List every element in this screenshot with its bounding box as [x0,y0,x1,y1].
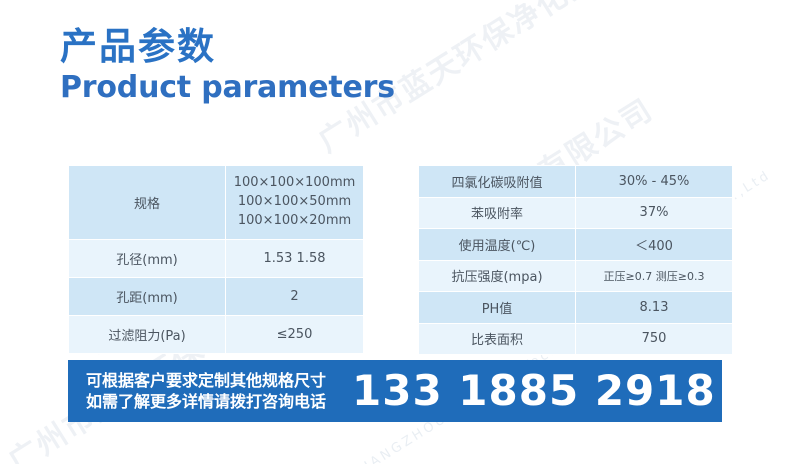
cta-phone-number[interactable]: 133 1885 2918 [352,370,716,412]
row-value: 8.13 [576,292,733,324]
table-row: 苯吸附率 37% [419,197,733,229]
row-value-line: 100×100×100mm [228,174,361,193]
row-value: ＜400 [576,229,733,261]
table-row: PH值 8.13 [419,292,733,324]
cta-banner: 可根据客户要求定制其他规格尺寸 如需了解更多详情请拨打咨询电话 133 1885… [68,360,722,422]
table-row: 规格 100×100×100mm 100×100×50mm 100×100×20… [69,166,364,240]
table-row: 抗压强度(mpa) 正压≥0.7 测压≥0.3 [419,260,733,292]
table-row: 过滤阻力(Pa) ≤250 [69,316,364,354]
table-row: 四氯化碳吸附值 30% - 45% [419,166,733,198]
spec-table-right: 四氯化碳吸附值 30% - 45% 苯吸附率 37% 使用温度(℃) ＜400 … [418,165,733,355]
cta-message: 可根据客户要求定制其他规格尺寸 如需了解更多详情请拨打咨询电话 [86,370,326,412]
table-row: 比表面积 750 [419,323,733,355]
page-title: 产品参数 Product parameters [60,26,395,107]
row-value: 1.53 1.58 [226,240,364,278]
row-label: 过滤阻力(Pa) [69,316,226,354]
row-label: PH值 [419,292,576,324]
table-row: 使用温度(℃) ＜400 [419,229,733,261]
table-row: 孔距(mm) 2 [69,278,364,316]
row-label: 孔径(mm) [69,240,226,278]
row-value-line: 100×100×20mm [228,212,361,231]
row-value-line: 100×100×50mm [228,193,361,212]
spec-table-right-body: 四氯化碳吸附值 30% - 45% 苯吸附率 37% 使用温度(℃) ＜400 … [419,166,733,355]
row-value: 2 [226,278,364,316]
product-parameters-page: 广州市蓝天环保净化技术有限公司 有限公司 蓝天环保净化技术 广州市蓝天环保 GU… [0,0,790,464]
row-label: 规格 [69,166,226,240]
row-label: 使用温度(℃) [419,229,576,261]
row-value: 37% [576,197,733,229]
row-label: 孔距(mm) [69,278,226,316]
row-label: 苯吸附率 [419,197,576,229]
row-value: ≤250 [226,316,364,354]
row-label: 抗压强度(mpa) [419,260,576,292]
row-value: 正压≥0.7 测压≥0.3 [576,260,733,292]
page-title-english: Product parameters [60,69,395,107]
row-value: 750 [576,323,733,355]
row-value: 100×100×100mm 100×100×50mm 100×100×20mm [226,166,364,240]
row-label: 四氯化碳吸附值 [419,166,576,198]
cta-line-2: 如需了解更多详情请拨打咨询电话 [86,391,326,412]
row-value: 30% - 45% [576,166,733,198]
cta-line-1: 可根据客户要求定制其他规格尺寸 [86,370,326,391]
row-label: 比表面积 [419,323,576,355]
table-row: 孔径(mm) 1.53 1.58 [69,240,364,278]
spec-table-left: 规格 100×100×100mm 100×100×50mm 100×100×20… [68,165,364,354]
spec-table-left-body: 规格 100×100×100mm 100×100×50mm 100×100×20… [69,166,364,354]
page-title-chinese: 产品参数 [60,26,395,67]
